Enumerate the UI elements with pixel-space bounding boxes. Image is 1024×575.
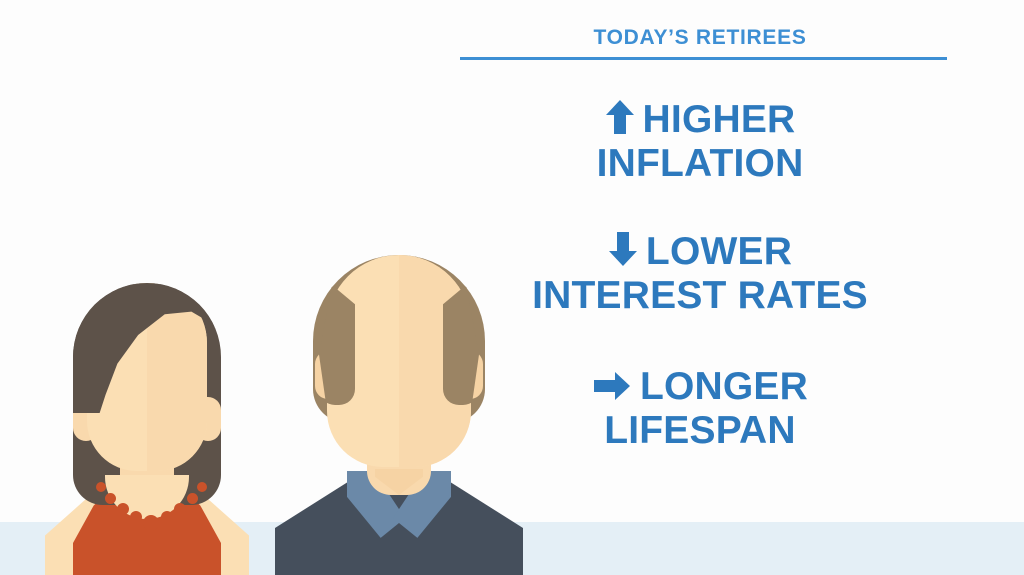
stat-3-line2-text: LIFESPAN (455, 409, 945, 453)
stat-line-primary: HIGHER (455, 98, 945, 142)
arrow-right-icon (592, 371, 632, 401)
female-retiree-avatar (45, 275, 265, 575)
page-title: TODAY’S RETIREES (455, 26, 945, 50)
stat-1-line2-text: INFLATION (455, 142, 945, 186)
stat-item-higher-inflation: HIGHER INFLATION (455, 98, 945, 186)
necklace-bead (117, 503, 129, 515)
necklace-bead (161, 511, 173, 523)
necklace-bead (105, 493, 116, 504)
title-underline (460, 57, 947, 60)
stats-panel: TODAY’S RETIREES HIGHER INFLATION LOW (455, 0, 955, 575)
stat-line-primary: LOWER (455, 230, 945, 274)
stat-1-line1-text: HIGHER (643, 98, 796, 141)
arrow-up-icon (605, 99, 635, 135)
stat-item-longer-lifespan: LONGER LIFESPAN (455, 365, 945, 453)
stat-2-line2-text: INTEREST RATES (455, 274, 945, 318)
necklace-bead (187, 493, 198, 504)
arrow-down-icon (608, 231, 638, 267)
necklace-bead (130, 511, 142, 523)
necklace-bead (197, 482, 207, 492)
stat-item-lower-interest-rates: LOWER INTEREST RATES (455, 230, 945, 318)
stat-3-line1-text: LONGER (640, 365, 808, 408)
necklace-bead (143, 515, 159, 531)
necklace-bead (96, 482, 106, 492)
stat-line-primary: LONGER (455, 365, 945, 409)
necklace-bead (174, 503, 186, 515)
slide-canvas: TODAY’S RETIREES HIGHER INFLATION LOW (0, 0, 1024, 575)
stat-2-line1-text: LOWER (646, 230, 792, 273)
